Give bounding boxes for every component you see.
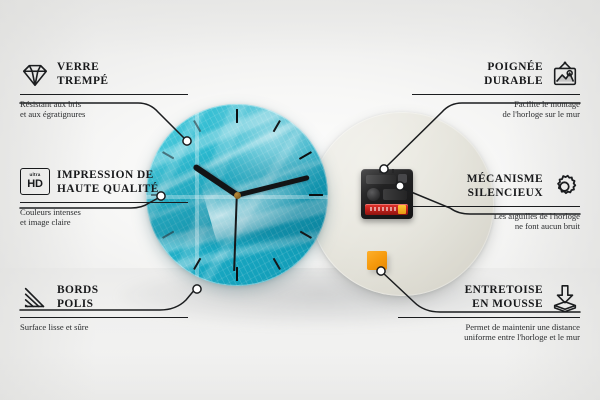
- divider: [398, 317, 580, 318]
- feature-header: ultra HD IMPRESSION DE HAUTE QUALITÉ: [20, 168, 188, 198]
- connector-dot-verre-trempe: [183, 137, 191, 145]
- feature-entretoise-en-mousse: ENTRETOISE EN MOUSSE Permet de maintenir…: [398, 283, 580, 343]
- feature-header: POIGNÉE DURABLE: [412, 60, 580, 90]
- feature-title: IMPRESSION DE HAUTE QUALITÉ: [57, 169, 159, 196]
- badge-large-label: HD: [27, 179, 43, 190]
- ultra-hd-badge-icon: ultra HD: [20, 168, 50, 198]
- connector-dot-poignee: [380, 165, 388, 173]
- gear-icon: [550, 172, 580, 202]
- feature-header: ENTRETOISE EN MOUSSE: [398, 283, 580, 313]
- infographic-canvas: VERRE TREMPÉ Résistant aux bris et aux é…: [0, 0, 600, 400]
- connector-dot-bords-polis: [193, 285, 201, 293]
- feature-mecanisme-silencieux: MÉCANISME SILENCIEUX Les aiguilles de l'…: [412, 172, 580, 232]
- feature-description: Les aiguilles de l'horloge ne font aucun…: [412, 211, 580, 232]
- divider: [20, 317, 188, 318]
- divider: [20, 202, 188, 203]
- feature-header: VERRE TREMPÉ: [20, 60, 188, 90]
- feature-impression-haute-qualite: ultra HD IMPRESSION DE HAUTE QUALITÉ Cou…: [20, 168, 188, 228]
- connector-dot-mecanisme: [396, 182, 404, 190]
- feature-description: Surface lisse et sûre: [20, 322, 188, 332]
- feature-description: Facilite le montage de l'horloge sur le …: [412, 99, 580, 120]
- feature-verre-trempe: VERRE TREMPÉ Résistant aux bris et aux é…: [20, 60, 188, 120]
- connector-dot-entretoise: [377, 267, 385, 275]
- feature-title: VERRE TREMPÉ: [57, 61, 108, 88]
- polished-edges-icon: [20, 283, 50, 313]
- feature-bords-polis: BORDS POLIS Surface lisse et sûre: [20, 283, 188, 332]
- divider: [412, 94, 580, 95]
- feature-title: POIGNÉE DURABLE: [484, 61, 543, 88]
- divider: [20, 94, 188, 95]
- feature-header: MÉCANISME SILENCIEUX: [412, 172, 580, 202]
- feature-description: Résistant aux bris et aux égratignures: [20, 99, 188, 120]
- feature-description: Couleurs intenses et image claire: [20, 207, 188, 228]
- hanging-frame-icon: [550, 60, 580, 90]
- feature-poignee-durable: POIGNÉE DURABLE Facilite le montage de l…: [412, 60, 580, 120]
- diamond-icon: [20, 60, 50, 90]
- feature-title: BORDS POLIS: [57, 284, 99, 311]
- feature-title: ENTRETOISE EN MOUSSE: [465, 284, 543, 311]
- foam-spacer-arrow-icon: [550, 283, 580, 313]
- feature-description: Permet de maintenir une distance uniform…: [398, 322, 580, 343]
- divider: [412, 206, 580, 207]
- feature-title: MÉCANISME SILENCIEUX: [467, 173, 543, 200]
- feature-header: BORDS POLIS: [20, 283, 188, 313]
